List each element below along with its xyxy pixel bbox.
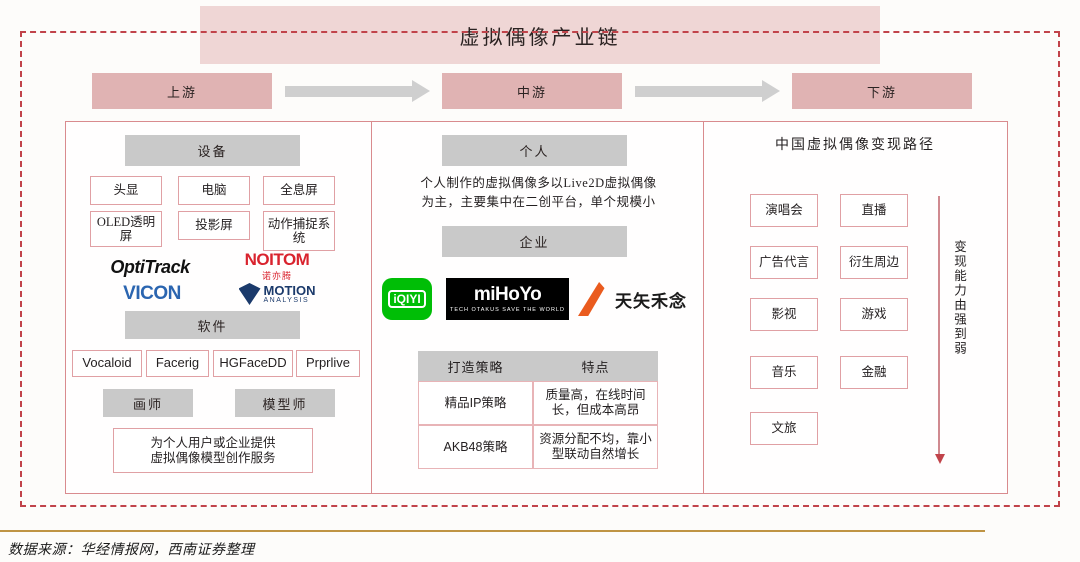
optitrack-logo-text: OptiTrack [110,257,189,278]
table-row: 精品IP策略 质量高，在线时间长，但成本高昂 [418,381,658,425]
vicon-logo: VICON [92,282,212,306]
motion-analysis-mark-icon [239,283,261,305]
table-cell-feature: 质量高，在线时间长，但成本高昂 [533,381,658,425]
path-merchandise: 衍生周边 [840,246,908,279]
software-item-hgfacedd: HGFaceDD [213,350,293,377]
optitrack-logo: OptiTrack [90,255,210,279]
table-header-strategy: 打造策略 [418,351,533,381]
role-illustrator: 画师 [103,389,193,417]
equipment-item-headset: 头显 [90,176,162,205]
monetization-strength-arrow-icon [935,196,944,466]
personal-description: 个人制作的虚拟偶像多以Live2D虚拟偶像 为主，主要集中在二创平台，单个规模小 [396,174,681,212]
source-note: 数据来源：华经情报网，西南证券整理 [8,539,255,559]
mihoyo-logo-text: miHoYo [474,285,541,304]
equipment-item-oled: OLED透明屏 [90,211,162,247]
vicon-logo-text: VICON [123,283,181,305]
role-modeler: 模型师 [235,389,335,417]
software-item-vocaloid: Vocaloid [72,350,142,377]
personal-description-line1: 个人制作的虚拟偶像多以Live2D虚拟偶像 [396,174,681,193]
tianshihenian-logo-text: 天矢禾念 [615,287,687,312]
table-row: AKB48策略 资源分配不均，靠小型联动自然增长 [418,425,658,469]
service-description-box: 为个人用户或企业提供 虚拟偶像模型创作服务 [113,428,313,473]
table-cell-strategy: AKB48策略 [418,425,533,469]
stage-downstream: 下游 [792,73,972,109]
equipment-header: 设备 [125,135,300,166]
software-item-facerig: Facerig [146,350,209,377]
path-livestream: 直播 [840,194,908,227]
path-film-tv: 影视 [750,298,818,331]
equipment-item-computer: 电脑 [178,176,250,205]
path-advertising: 广告代言 [750,246,818,279]
mihoyo-logo: miHoYo TECH OTAKUS SAVE THE WORLD [445,278,570,320]
path-music: 音乐 [750,356,818,389]
stage-upstream: 上游 [92,73,272,109]
service-description-line1: 为个人用户或企业提供 [150,436,275,450]
table-cell-feature: 资源分配不均，靠小型联动自然增长 [533,425,658,469]
tianshihenian-mark-icon [578,282,612,316]
table-header-feature: 特点 [533,351,658,381]
tianshihenian-logo: 天矢禾念 [575,278,690,320]
strategy-table: 打造策略 特点 精品IP策略 质量高，在线时间长，但成本高昂 AKB48策略 资… [418,351,658,469]
mihoyo-logo-tagline: TECH OTAKUS SAVE THE WORLD [450,307,565,313]
equipment-item-oled-label: OLED透明屏 [91,215,161,244]
equipment-item-projector: 投影屏 [178,211,250,240]
motion-analysis-logo-subtext: ANALYSIS [264,297,316,304]
table-cell-strategy: 精品IP策略 [418,381,533,425]
column-divider-right [703,122,704,493]
table-header-row: 打造策略 特点 [418,351,658,381]
noitom-logo-text: NOITOM [245,251,310,268]
path-tourism: 文旅 [750,412,818,445]
iqiyi-logo-text: iQIYI [388,290,425,308]
personal-header: 个人 [442,135,627,166]
flow-arrow-1-icon [285,80,430,102]
equipment-item-hologram: 全息屏 [263,176,335,205]
path-concert: 演唱会 [750,194,818,227]
path-finance: 金融 [840,356,908,389]
service-description-line2: 虚拟偶像模型创作服务 [150,451,275,465]
column-divider-left [371,122,372,493]
software-header: 软件 [125,311,300,339]
downstream-title: 中国虚拟偶像变现路径 [730,134,980,154]
stage-midstream: 中游 [442,73,622,109]
personal-description-line2: 为主，主要集中在二创平台，单个规模小 [396,193,681,212]
iqiyi-logo: iQIYI [381,278,433,320]
monetization-strength-label: 变现能力由强到弱 [948,240,966,356]
enterprise-header: 企业 [442,226,627,257]
footer-divider [0,530,985,532]
equipment-item-mocap: 动作捕捉系统 [263,211,335,251]
noitom-logo: NOITOM 诺亦腾 [222,250,332,282]
motion-analysis-logo: MOTION ANALYSIS [218,280,336,308]
flow-arrow-2-icon [635,80,780,102]
software-item-prprlive: Prprlive [296,350,360,377]
motion-analysis-logo-text: MOTION [264,284,316,297]
path-gaming: 游戏 [840,298,908,331]
